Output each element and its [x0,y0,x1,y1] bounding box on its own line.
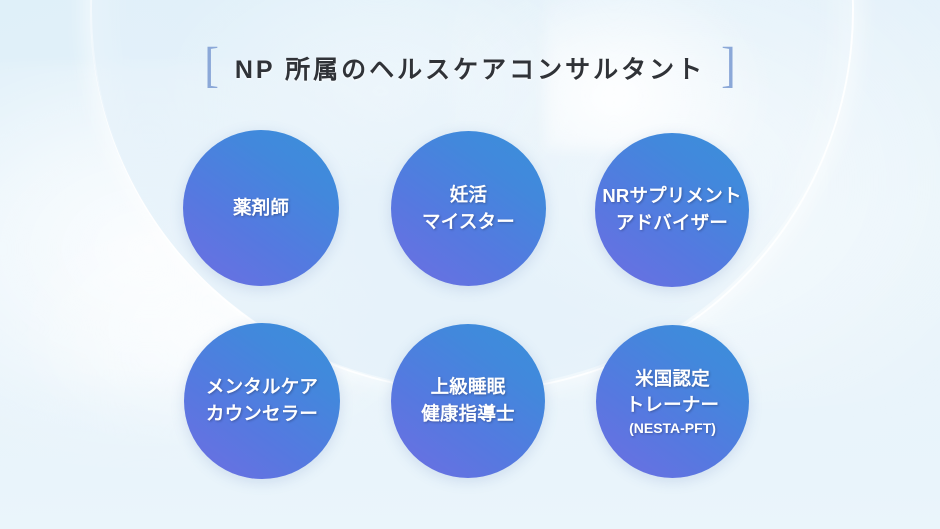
page-title: [ NP 所属のヘルスケアコンサルタント ] [0,46,940,90]
badge-label-line: 薬剤師 [233,195,289,222]
badge-label-line: 米国認定 [635,366,710,393]
page-title-text: NP 所属のヘルスケアコンサルタント [235,50,705,86]
badge-label-line: 上級睡眠 [431,374,506,401]
badge-circle-pharmacist[interactable]: 薬剤師 [183,130,339,286]
badge-label-line: NRサプリメント [602,183,741,210]
badge-label-line: 健康指導士 [421,401,515,428]
badge-circle-us-certified-trainer[interactable]: 米国認定 トレーナー (NESTA-PFT) [596,325,749,478]
bracket-left-icon: [ [204,41,219,90]
badge-circle-mental-care-counselor[interactable]: メンタルケア カウンセラー [184,323,340,479]
badge-circle-nr-supplement-advisor[interactable]: NRサプリメント アドバイザー [595,133,749,287]
badge-label-line: アドバイザー [616,210,728,237]
badge-label-line: マイスター [422,209,515,236]
badge-label-line: 妊活 [450,182,487,209]
badge-label-line: トレーナー [626,392,720,419]
badge-label-sublabel: (NESTA-PFT) [629,419,716,437]
badge-circle-advanced-sleep-health-instructor[interactable]: 上級睡眠 健康指導士 [391,324,545,478]
badge-label-line: カウンセラー [206,401,318,428]
bracket-right-icon: ] [721,41,736,90]
badge-label-line: メンタルケア [206,374,318,401]
slide-root: [ NP 所属のヘルスケアコンサルタント ] 薬剤師 妊活 マイスター NRサプ… [0,0,940,529]
badge-circle-fertility-meister[interactable]: 妊活 マイスター [391,131,546,286]
